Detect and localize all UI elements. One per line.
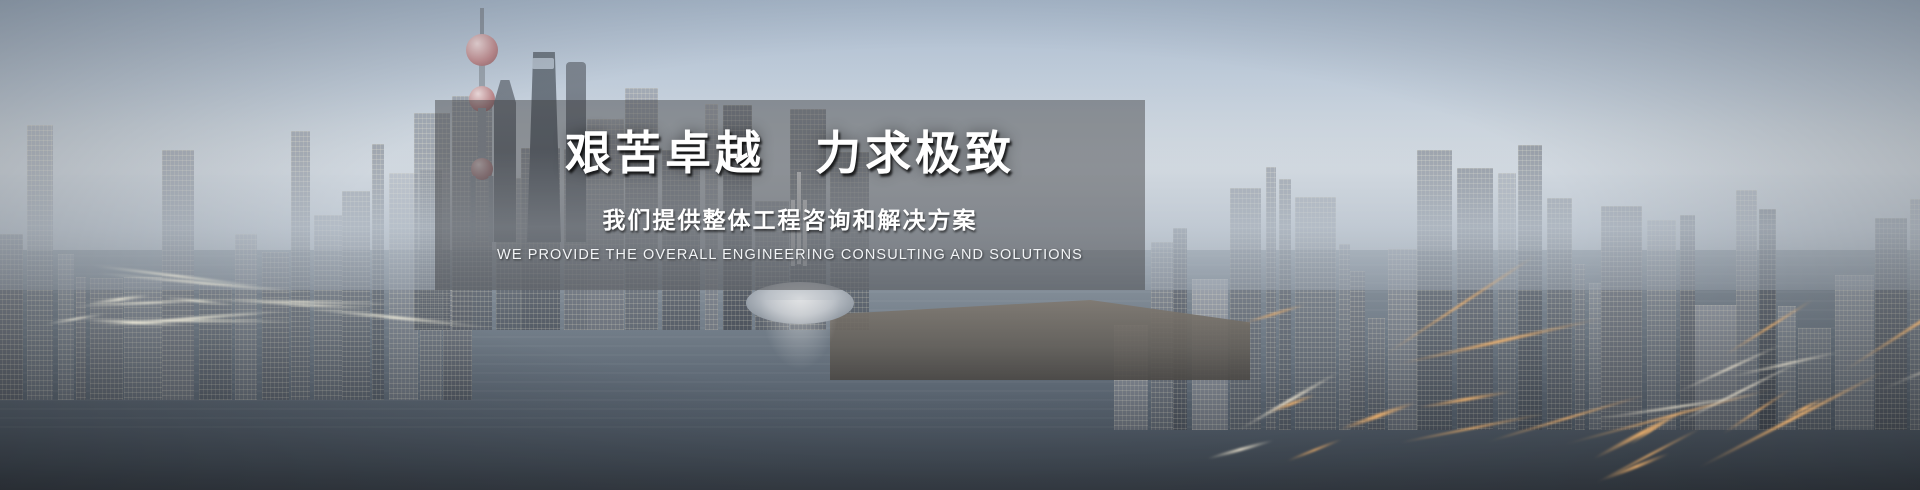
banner-tagline: WE PROVIDE THE OVERALL ENGINEERING CONSU… (497, 247, 1083, 263)
banner-headline: 艰苦卓越 力求极致 (565, 128, 1015, 179)
banner-subheading: 我们提供整体工程咨询和解决方案 (603, 201, 978, 235)
hero-banner: 艰苦卓越 力求极致 我们提供整体工程咨询和解决方案 WE PROVIDE THE… (0, 0, 1920, 490)
caption-block: 艰苦卓越 力求极致 我们提供整体工程咨询和解决方案 WE PROVIDE THE… (435, 100, 1145, 290)
